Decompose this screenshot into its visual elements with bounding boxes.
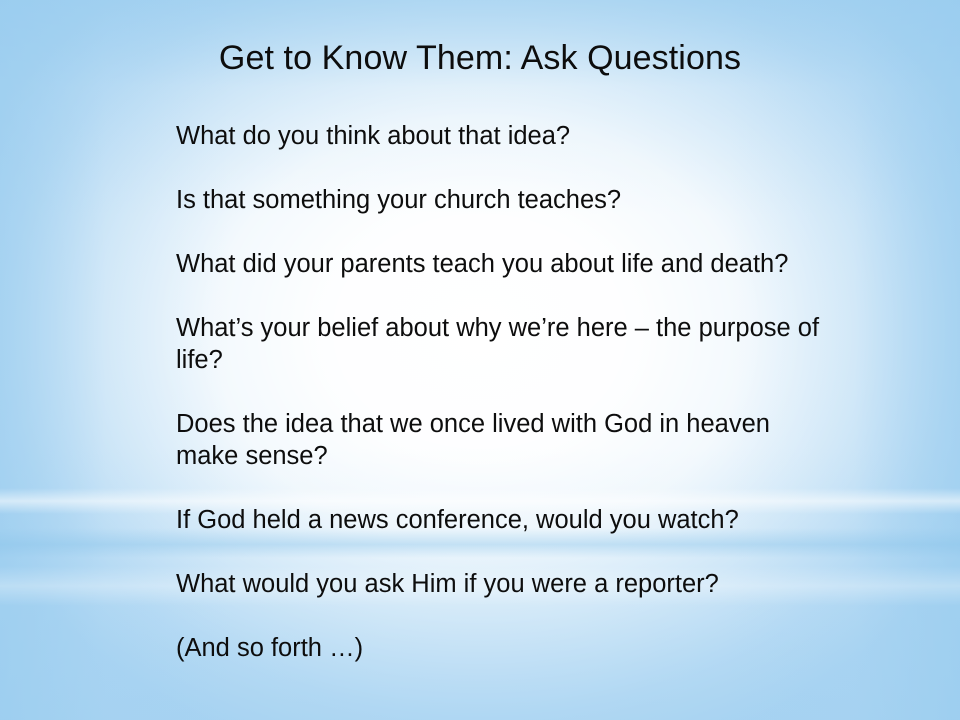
presentation-slide: Get to Know Them: Ask Questions What do …	[0, 0, 960, 720]
question-list: What do you think about that idea? Is th…	[176, 120, 838, 664]
question-item: (And so forth …)	[176, 632, 838, 664]
question-item: What would you ask Him if you were a rep…	[176, 568, 838, 600]
question-item: Is that something your church teaches?	[176, 184, 838, 216]
slide-content: Get to Know Them: Ask Questions What do …	[0, 0, 960, 720]
question-item: Does the idea that we once lived with Go…	[176, 408, 838, 472]
question-item: What did your parents teach you about li…	[176, 248, 838, 280]
question-item: What’s your belief about why we’re here …	[176, 312, 838, 376]
slide-title: Get to Know Them: Ask Questions	[0, 36, 960, 80]
question-item: What do you think about that idea?	[176, 120, 838, 152]
question-item: If God held a news conference, would you…	[176, 504, 838, 536]
